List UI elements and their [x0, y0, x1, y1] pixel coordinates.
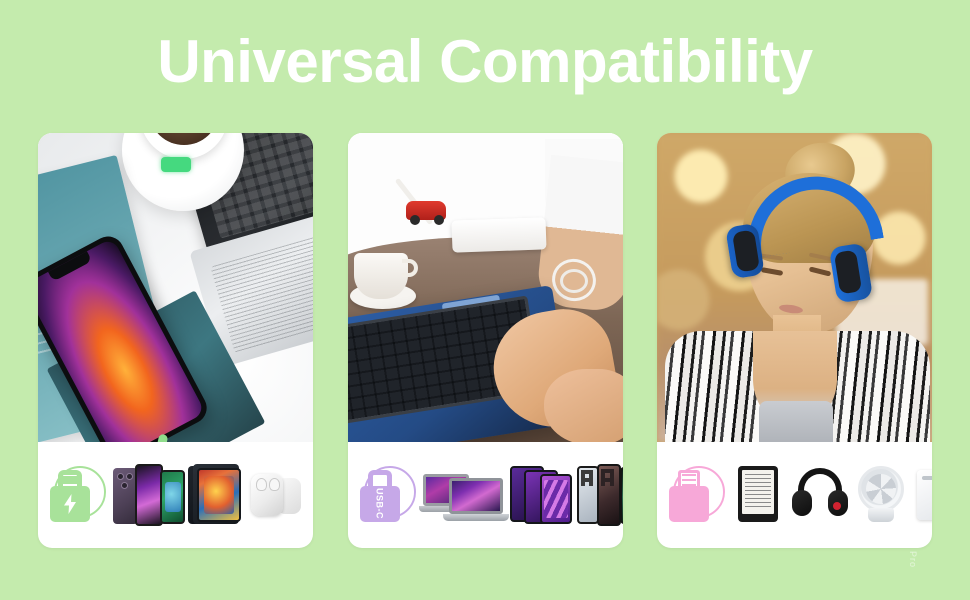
- cup-handle: [402, 259, 418, 277]
- card-photo-usbc: [348, 133, 623, 442]
- usbc-compatibility-card[interactable]: USB-C: [348, 133, 623, 548]
- airpod-right: [269, 478, 280, 491]
- page-title: Universal Compatibility: [0, 26, 970, 98]
- airpods-group: [247, 464, 303, 526]
- card-device-icons-micro-usb: [657, 442, 932, 548]
- iphone-front-purple: [135, 464, 163, 526]
- lightning-compatibility-card[interactable]: E: [38, 133, 313, 548]
- usbc-plug-icon: USB-C: [356, 464, 418, 526]
- plug-body: [669, 486, 709, 522]
- card-device-icons-lightning: [38, 442, 313, 548]
- galaxy-green-screen: [620, 467, 623, 524]
- fan-group: [854, 464, 912, 526]
- plug-contact-bar: [59, 476, 81, 484]
- samsung-group: [577, 464, 623, 526]
- powerbank-group: [915, 464, 932, 526]
- iphone-group: [113, 464, 185, 526]
- person-hand-second: [544, 369, 623, 442]
- macbook-base-front: [443, 514, 509, 521]
- usbc-label: USB-C: [375, 488, 385, 519]
- camera-lens: [121, 482, 128, 489]
- macbook-screen-front: [449, 478, 503, 514]
- earbuds-cable-inner: [560, 269, 588, 293]
- ipad-wallpaper: [204, 476, 234, 514]
- camera-lens: [117, 473, 124, 480]
- toy-car-wheel: [410, 215, 420, 225]
- ipad-wallpaper: [544, 480, 568, 518]
- camera-array: [581, 470, 593, 486]
- card-device-icons-usbc: USB-C: [348, 442, 623, 548]
- bolt-glyph: [63, 494, 77, 514]
- coffee-cup: [354, 253, 408, 299]
- fan-base: [868, 508, 894, 522]
- charging-battery-indicator: [161, 157, 191, 172]
- ipad-group: [188, 464, 244, 526]
- headphone-earcup-left: [792, 490, 812, 516]
- ereader-group: [732, 464, 786, 526]
- airpod-left: [256, 478, 267, 491]
- iphone-green-screen: [165, 482, 181, 512]
- micro-usb-compatibility-card[interactable]: [657, 133, 932, 548]
- lightning-plug-icon: [46, 464, 108, 526]
- fan-blades: [866, 474, 896, 504]
- toy-car-wheel: [434, 215, 444, 225]
- camera-array: [601, 469, 614, 486]
- camera-lens: [126, 473, 133, 480]
- card-photo-micro-usb: [657, 133, 932, 442]
- white-smartphone: [451, 217, 546, 252]
- micro-usb-plug-icon: [665, 464, 727, 526]
- watermark: Pro: [908, 551, 918, 568]
- inner-top: [759, 401, 833, 442]
- laptop-grille: [210, 233, 313, 354]
- powerbank-led-strip: [922, 476, 932, 480]
- macbook-group: [423, 464, 507, 526]
- ereader-text: [745, 474, 771, 510]
- brand-dot: [833, 502, 841, 510]
- compatibility-cards-row: E: [38, 133, 932, 548]
- headphones-group: [789, 464, 851, 526]
- ipad-purple-group: [510, 464, 574, 526]
- card-photo-lightning: E: [38, 133, 313, 442]
